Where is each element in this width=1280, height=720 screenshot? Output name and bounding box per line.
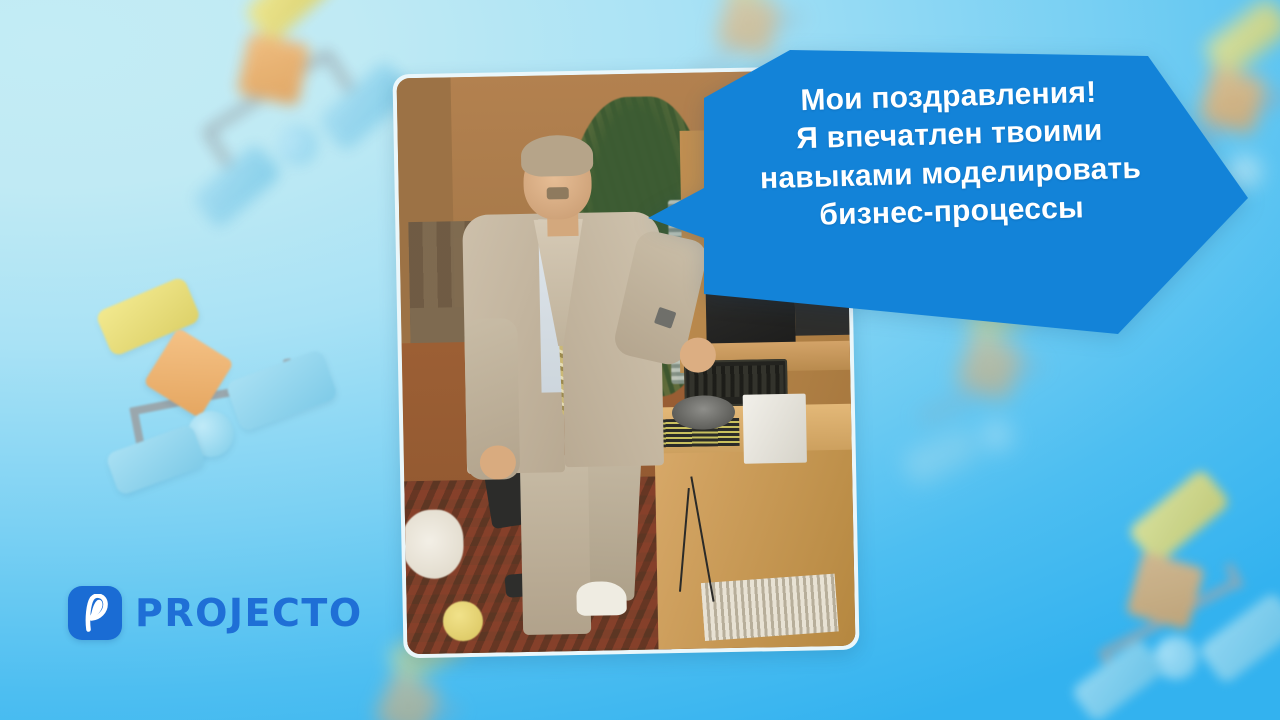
photo-white-box	[743, 393, 807, 463]
flowchart-motif-top-left	[112, 0, 439, 256]
speech-bubble-text: Мои поздравления! Я впечатлен твоими нав…	[698, 71, 1202, 238]
projecto-p-icon	[68, 586, 122, 640]
photo-person-mustache	[546, 187, 569, 199]
projecto-wordmark: PROJECTO	[135, 591, 363, 635]
projecto-logo[interactable]: PROJECTO	[68, 586, 363, 640]
photo-person-hair	[521, 135, 593, 177]
photo-cd-rack	[701, 573, 839, 640]
flowchart-motif-left	[77, 250, 362, 504]
promo-canvas: Мои поздравления! Я впечатлен твоими нав…	[0, 0, 1280, 720]
photo-person-shoe	[576, 581, 626, 616]
flowchart-motif-right-bottom	[1011, 461, 1280, 720]
